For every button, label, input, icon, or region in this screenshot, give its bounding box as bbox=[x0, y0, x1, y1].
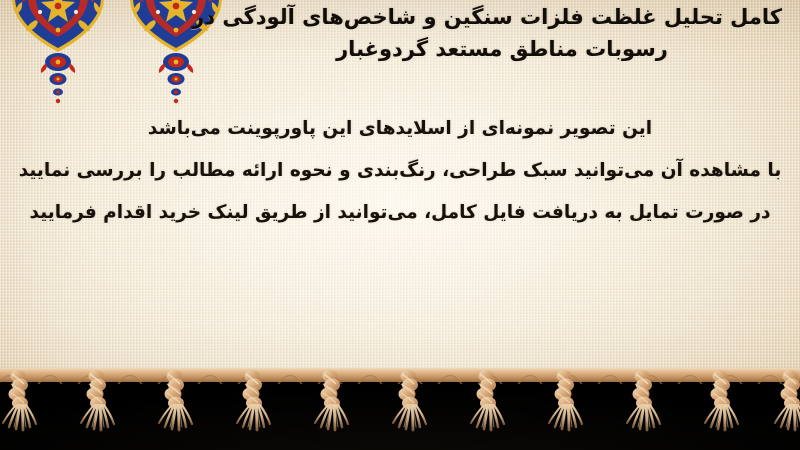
body-line-2: با مشاهده آن می‌توانید سبک طراحی، رنگ‌بن… bbox=[0, 150, 800, 192]
bottom-black-band bbox=[0, 368, 800, 450]
slide-canvas: کامل تحلیل غلظت فلزات سنگین و شاخص‌های آ… bbox=[0, 0, 800, 450]
slide-body: این تصویر نمونه‌ای از اسلایدهای این پاور… bbox=[0, 108, 800, 235]
title-line-2: رسوبات مناطق مستعد گردوغبار bbox=[222, 34, 782, 66]
body-line-1: این تصویر نمونه‌ای از اسلایدهای این پاور… bbox=[0, 108, 800, 150]
title-line-1: کامل تحلیل غلظت فلزات سنگین و شاخص‌های آ… bbox=[222, 2, 782, 34]
slide-title: کامل تحلیل غلظت فلزات سنگین و شاخص‌های آ… bbox=[222, 2, 782, 66]
body-line-3: در صورت تمایل به دریافت فایل کامل، می‌تو… bbox=[0, 192, 800, 234]
